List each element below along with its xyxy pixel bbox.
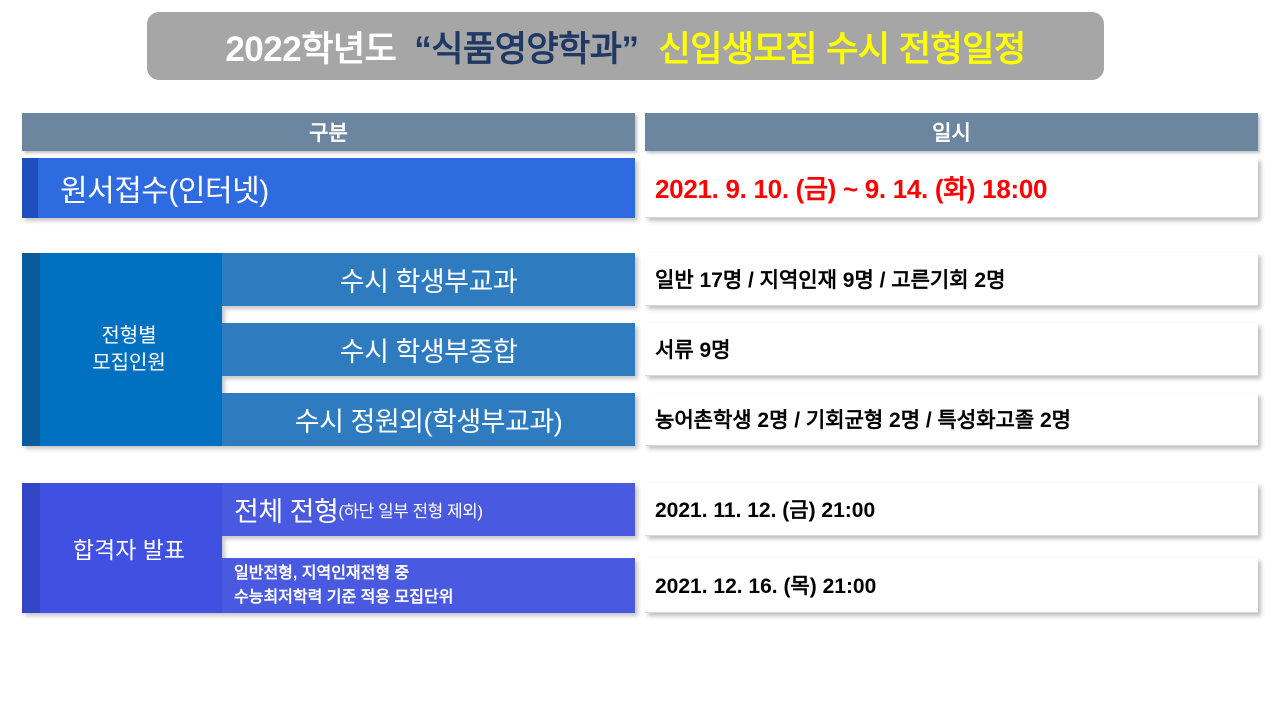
row-value-susi-jeongwonoe: 농어촌학생 2명 / 기회균형 2명 / 특성화고졸 2명 <box>645 393 1258 446</box>
row-label-application: 원서접수(인터넷) <box>22 158 635 218</box>
group-label-quota-text: 전형별 모집인원 <box>78 323 166 377</box>
row-value-susi-jonghap: 서류 9명 <box>645 323 1258 376</box>
title-subject: 신입생모집 수시 전형일정 <box>659 21 1026 72</box>
column-header-datetime: 일시 <box>645 113 1258 151</box>
row-value-all-types: 2021. 11. 12. (금) 21:00 <box>645 483 1258 536</box>
row-label-all-types-note: (하단 일부 전형 제외) <box>338 497 482 522</box>
row-value-application: 2021. 9. 10. (금) ~ 9. 14. (화) 18:00 <box>645 158 1258 218</box>
page-title-banner: 2022학년도 “식품영양학과” 신입생모집 수시 전형일정 <box>147 12 1104 80</box>
title-department: “식품영양학과” <box>414 21 638 72</box>
row-label-all-types-main: 전체 전형 <box>234 490 338 529</box>
row-label-application-text: 원서접수(인터넷) <box>60 166 269 210</box>
row-label-susi-jeongwonoe: 수시 정원외(학생부교과) <box>222 393 635 446</box>
row-label-csat-minimum-line1: 일반전형, 지역인재전형 중 <box>234 562 409 585</box>
group-label-quota: 전형별 모집인원 <box>22 253 222 446</box>
row-label-susi-gyogwa: 수시 학생부교과 <box>222 253 635 306</box>
group-label-announcement: 합격자 발표 <box>22 483 222 613</box>
column-header-category: 구분 <box>22 113 635 151</box>
accent-stripe <box>22 158 38 218</box>
accent-stripe <box>22 253 40 446</box>
title-year: 2022학년도 <box>225 21 396 72</box>
row-value-csat-minimum: 2021. 12. 16. (목) 21:00 <box>645 558 1258 613</box>
table-header-row: 구분 일시 <box>22 113 1258 151</box>
row-label-all-types: 전체 전형 (하단 일부 전형 제외) <box>222 483 635 536</box>
row-value-susi-gyogwa: 일반 17명 / 지역인재 9명 / 고른기회 2명 <box>645 253 1258 306</box>
row-label-csat-minimum: 일반전형, 지역인재전형 중 수능최저학력 기준 적용 모집단위 <box>222 558 635 613</box>
accent-stripe <box>22 483 40 613</box>
group-label-announcement-text: 합격자 발표 <box>59 531 185 565</box>
group-label-quota-line1: 전형별 <box>101 325 156 347</box>
row-label-susi-jonghap: 수시 학생부종합 <box>222 323 635 376</box>
row-label-csat-minimum-line2: 수능최저학력 기준 적용 모집단위 <box>234 586 453 609</box>
group-label-quota-line2: 모집인원 <box>92 352 166 374</box>
